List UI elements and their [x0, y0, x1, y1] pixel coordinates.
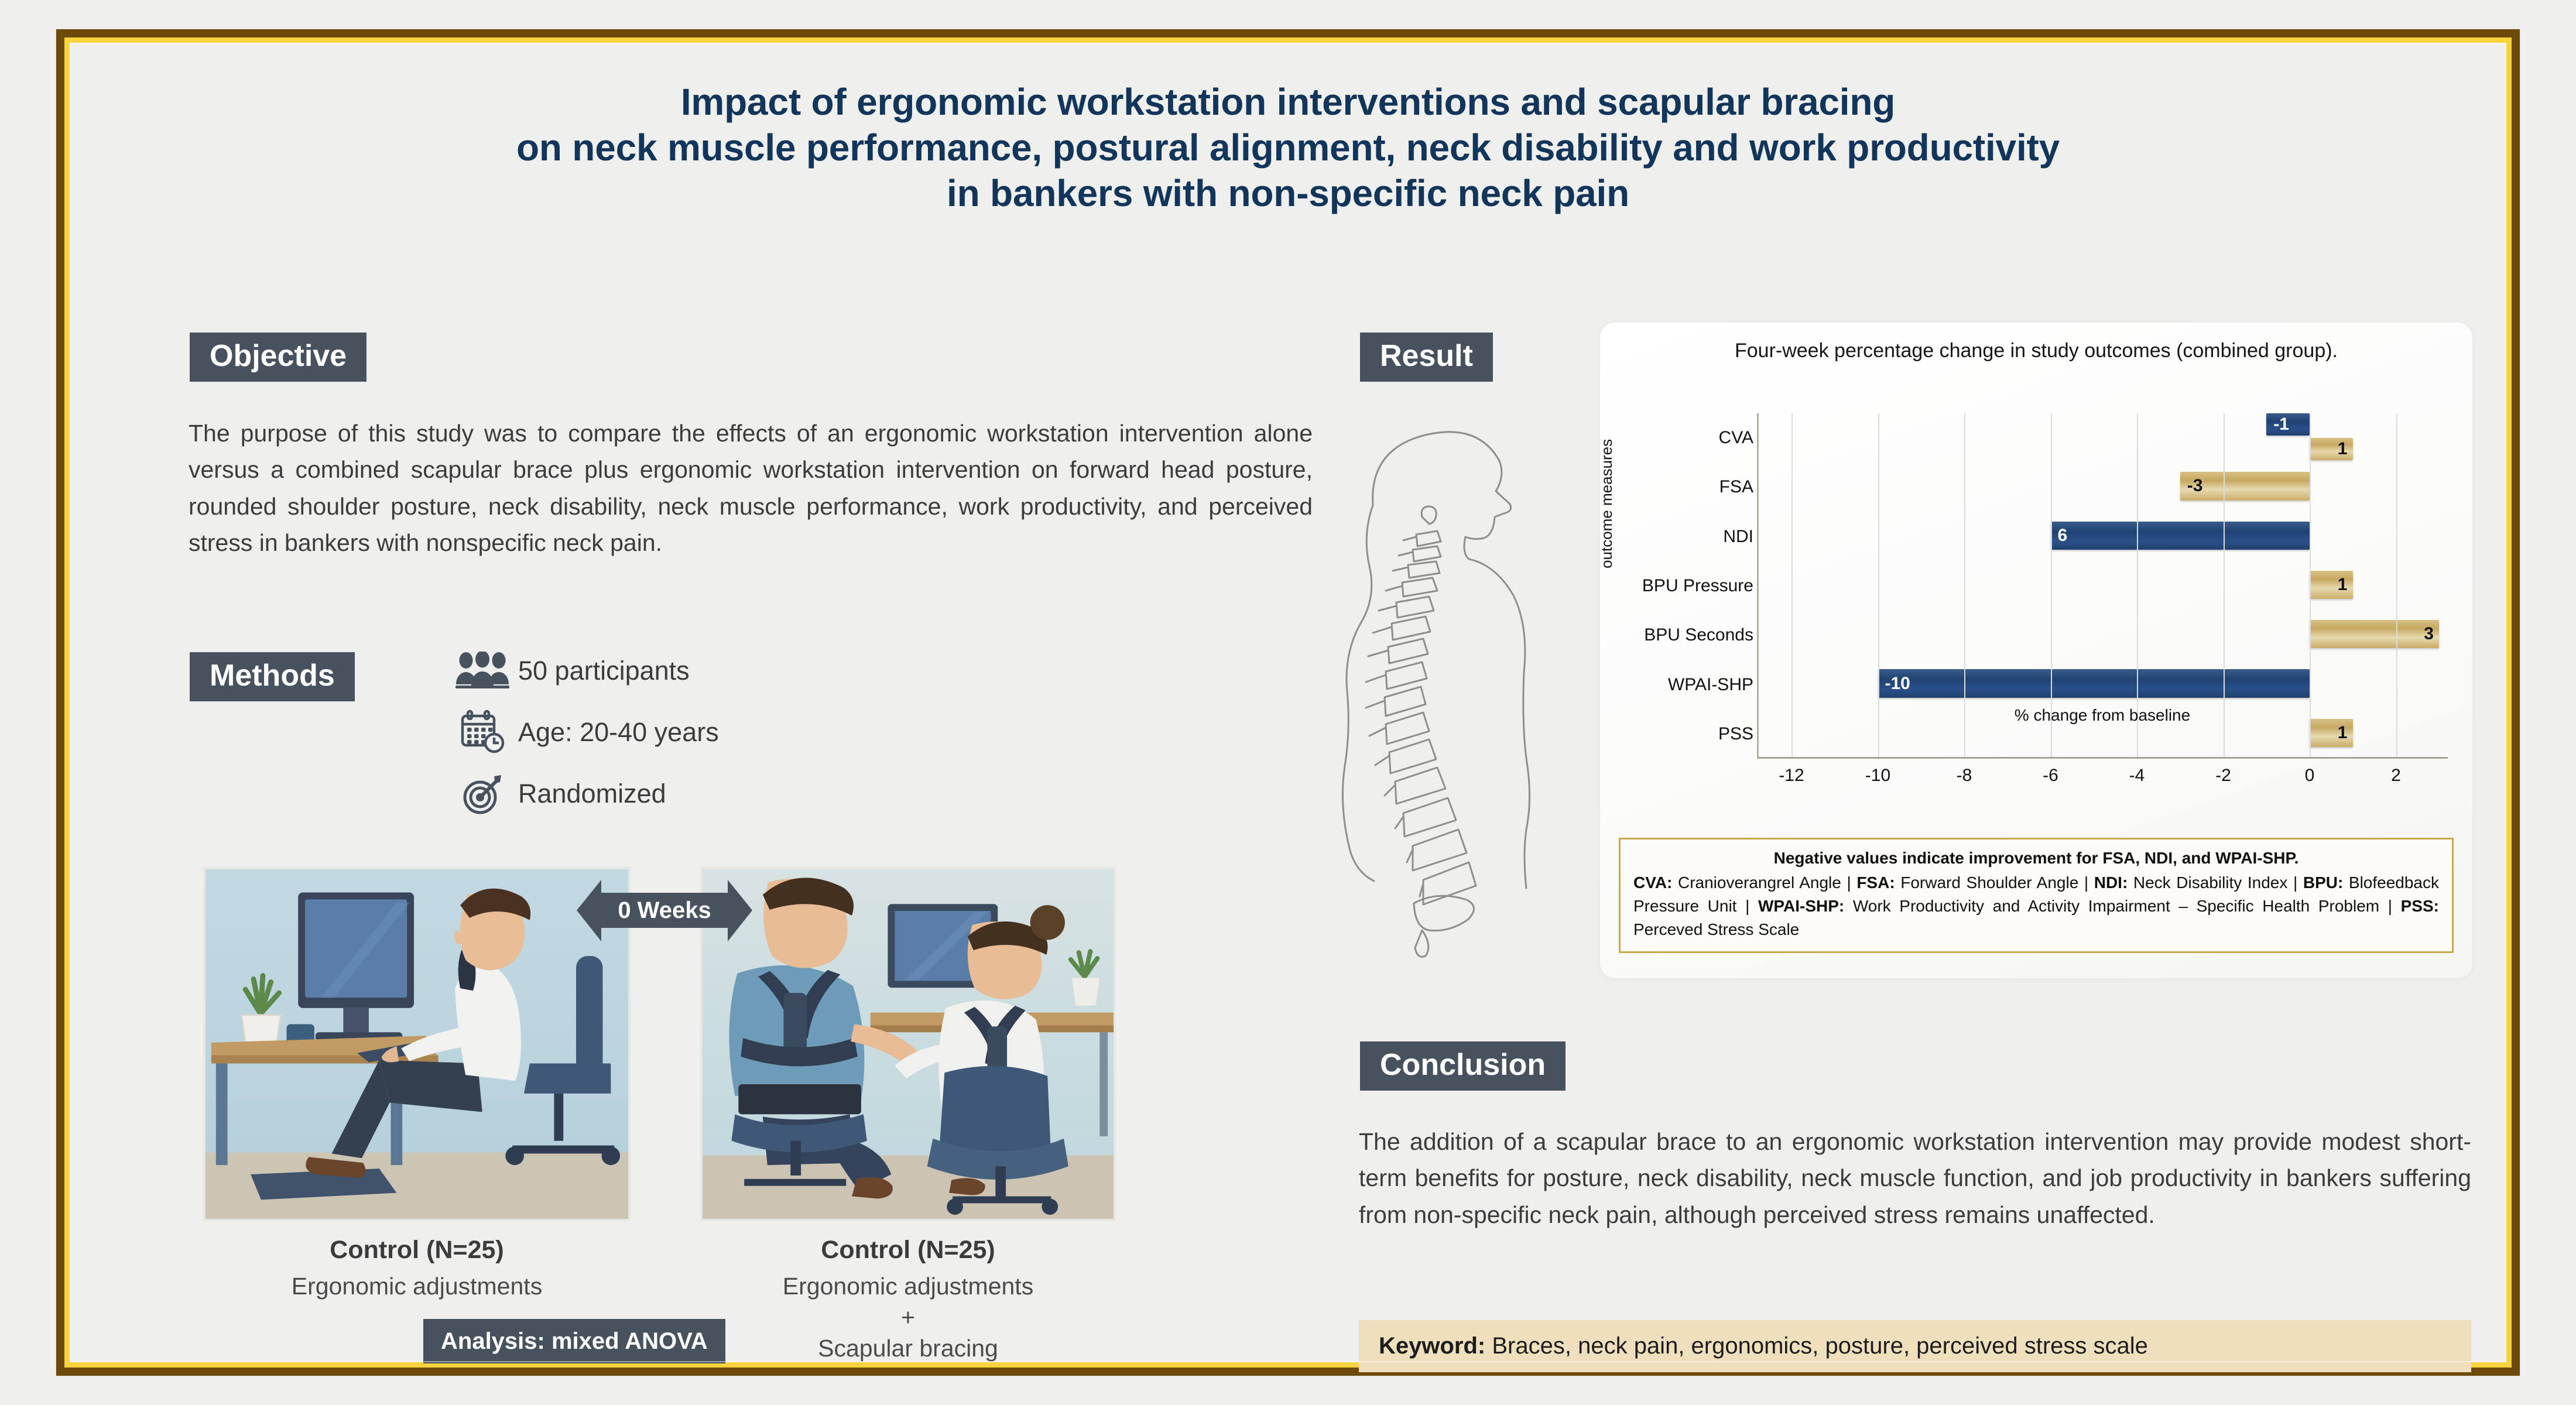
title-line-1: Impact of ergonomic workstation interven…	[70, 79, 2506, 125]
chart-category-label: BPU Seconds	[1600, 625, 1753, 645]
chart-x-tick-label: -8	[1957, 766, 1972, 786]
conclusion-body-text: The addition of a scapular brace to an e…	[1359, 1123, 2471, 1233]
calendar-clock-icon	[450, 709, 515, 756]
methods-item-label: Age: 20-40 years	[518, 717, 719, 748]
result-section-header: Result	[1360, 333, 1493, 382]
spine-posture-illustration	[1334, 417, 1609, 962]
methods-item-label: 50 participants	[518, 656, 690, 686]
poster-gold-frame: Impact of ergonomic workstation interven…	[56, 29, 2520, 1376]
methods-item-label: Randomized	[518, 779, 666, 809]
conclusion-section-header: Conclusion	[1360, 1041, 1566, 1091]
methods-item-age: Age: 20-40 years	[450, 701, 719, 763]
footnote-abbr: FSA:	[1856, 873, 1895, 892]
people-group-icon	[450, 652, 515, 690]
chart-x-axis-title: % change from baseline	[1757, 706, 2448, 725]
caption-detail: Ergonomic adjustments	[700, 1273, 1116, 1300]
caption-group-control: Control (N=25) Ergonomic adjustments	[203, 1236, 631, 1300]
footnote-abbr: BPU:	[2303, 873, 2343, 892]
caption-plus: +	[700, 1304, 1116, 1331]
methods-item-participants: 50 participants	[450, 640, 719, 701]
footnote-definition: Perceved Stress Scale	[1633, 920, 1799, 938]
chart-footnote-box: Negative values indicate improvement for…	[1619, 838, 2454, 953]
chart-x-tick-label: -10	[1865, 766, 1890, 786]
chart-x-tick-label: -12	[1779, 766, 1804, 786]
illustration-intervention-group-bracing	[700, 867, 1116, 1221]
keyword-bar: Keyword: Braces, neck pain, ergonomics, …	[1359, 1320, 2471, 1372]
timeline-arrow-label: 0 Weeks	[577, 880, 752, 941]
chart-title: Four-week percentage change in study out…	[1670, 338, 2402, 364]
chart-x-tick-label: -4	[2129, 766, 2145, 786]
footnote-abbr: PSS:	[2401, 897, 2439, 915]
chart-category-label: PSS	[1600, 724, 1753, 744]
analysis-badge: Analysis: mixed ANOVA	[423, 1319, 725, 1363]
target-dart-icon	[450, 772, 515, 816]
chart-footnote-heading: Negative values indicate improvement for…	[1633, 849, 2439, 868]
chart-category-label: WPAI-SHP	[1600, 675, 1753, 695]
objective-body-text: The purpose of this study was to compare…	[189, 415, 1313, 561]
chart-x-tick-label: -2	[2215, 766, 2231, 786]
caption-group-intervention: Control (N=25) Ergonomic adjustments + S…	[700, 1236, 1116, 1362]
chart-category-label: CVA	[1600, 428, 1753, 448]
timeline-arrow-0-weeks: 0 Weeks	[577, 880, 752, 941]
footnote-definition: Forward Shoulder Angle |	[1895, 873, 2094, 892]
caption-title: Control (N=25)	[203, 1236, 631, 1264]
footnote-definition: Cranioverangrel Angle |	[1672, 873, 1856, 892]
chart-y-axis-title: outcome measures	[1600, 439, 1616, 568]
illustration-control-group-workstation	[203, 867, 631, 1221]
footnote-definition: Work Productivity and Activity Impairmen…	[1844, 897, 2400, 915]
page-title: Impact of ergonomic workstation interven…	[70, 79, 2506, 216]
keyword-label: Keyword:	[1379, 1333, 1485, 1359]
chart-x-tick-label: 2	[2391, 766, 2401, 786]
chart-x-axis-line	[1757, 757, 2448, 759]
footnote-definition: Neck Disability Index |	[2128, 873, 2303, 892]
methods-item-randomized: Randomized	[450, 763, 719, 824]
objective-section-header: Objective	[190, 333, 366, 382]
poster-inner-frame: Impact of ergonomic workstation interven…	[64, 37, 2512, 1368]
title-line-2: on neck muscle performance, postural ali…	[70, 125, 2506, 170]
chart-x-tick-label: 0	[2305, 766, 2315, 786]
methods-items: 50 participants	[450, 640, 719, 824]
poster-canvas: Impact of ergonomic workstation interven…	[70, 43, 2506, 1362]
methods-section-header: Methods	[190, 652, 355, 701]
keyword-value: Braces, neck pain, ergonomics, posture, …	[1485, 1333, 2148, 1359]
title-line-3: in bankers with non-specific neck pain	[70, 170, 2506, 216]
chart-category-label: BPU Pressure	[1600, 576, 1753, 596]
chart-x-tick-label: -6	[2043, 766, 2058, 786]
chart-footnote-abbreviations: CVA: Cranioverangrel Angle | FSA: Forwar…	[1633, 871, 2439, 941]
caption-title: Control (N=25)	[700, 1236, 1116, 1264]
footnote-abbr: CVA:	[1633, 873, 1672, 892]
chart-category-label: NDI	[1600, 527, 1753, 547]
caption-detail: Ergonomic adjustments	[203, 1273, 631, 1300]
chart-category-label: FSA	[1600, 477, 1753, 497]
footnote-abbr: WPAI-SHP:	[1758, 897, 1844, 915]
results-chart-panel: Four-week percentage change in study out…	[1600, 323, 2472, 978]
caption-detail-2: Scapular bracing	[700, 1335, 1116, 1362]
footnote-abbr: NDI:	[2094, 873, 2128, 892]
